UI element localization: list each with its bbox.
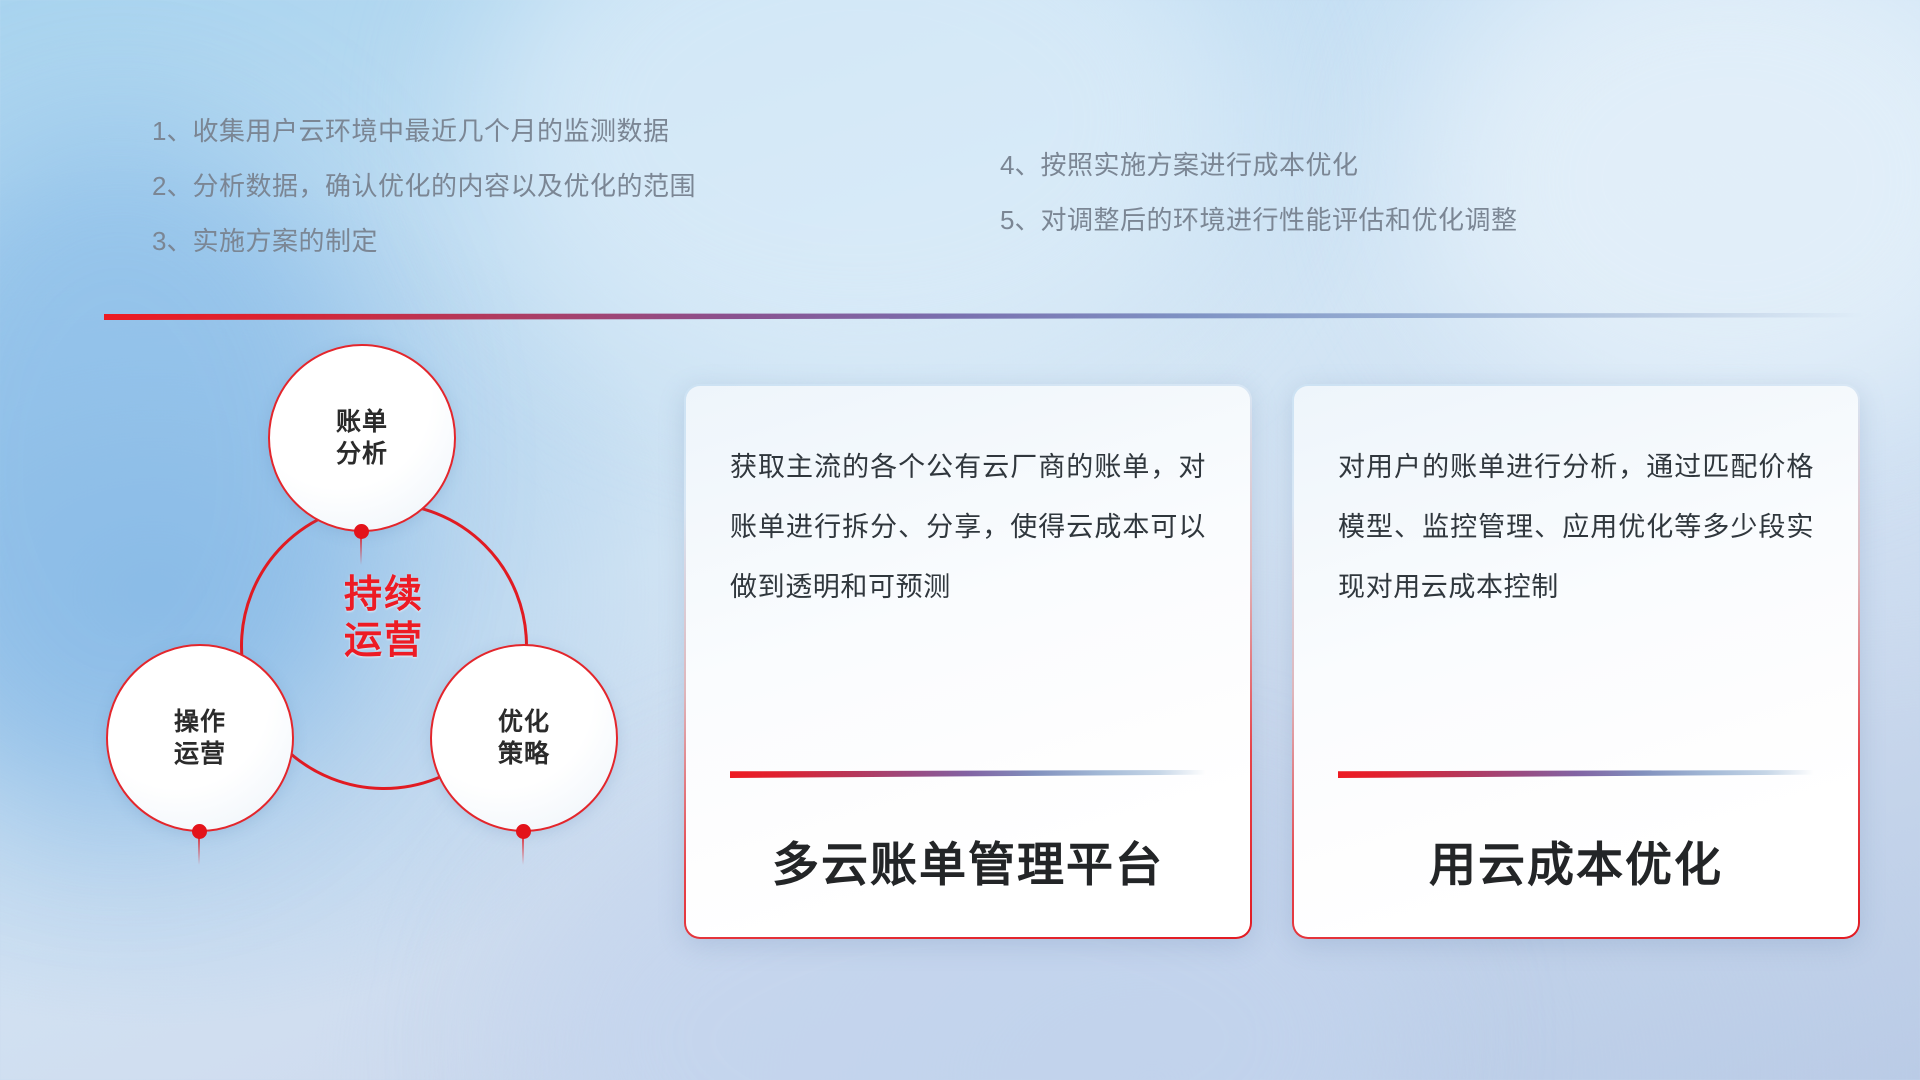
venn-bubble-line-2: 分析 xyxy=(336,438,388,470)
venn-connector-stem-right xyxy=(522,835,524,865)
venn-connector-stem-left xyxy=(198,835,200,865)
venn-center-line-2: 运营 xyxy=(240,618,528,664)
step-list-left: 1、收集用户云环境中最近几个月的监测数据 2、分析数据，确认优化的内容以及优化的… xyxy=(152,118,696,283)
step-number: 5、 xyxy=(1000,205,1040,235)
venn-center-line-1: 持续 xyxy=(240,572,528,618)
feature-card-cloud-cost-optimization[interactable]: 对用户的账单进行分析，通过匹配价格模型、监控管理、应用优化等多少段实现对用云成本… xyxy=(1292,384,1860,939)
feature-card-title: 多云账单管理平台 xyxy=(730,826,1206,937)
venn-bubble-line-2: 策略 xyxy=(498,738,550,770)
step-list-item: 3、实施方案的制定 xyxy=(152,228,696,254)
venn-connector-dot-left xyxy=(192,824,207,839)
step-text: 分析数据，确认优化的内容以及优化的范围 xyxy=(192,171,696,201)
feature-card-title: 用云成本优化 xyxy=(1338,826,1814,937)
venn-connector-dot-right xyxy=(516,824,531,839)
venn-bubble-label: 优化 策略 xyxy=(498,706,550,770)
feature-card-inner: 获取主流的各个公有云厂商的账单，对账单进行拆分、分享，使得云成本可以做到透明和可… xyxy=(686,386,1250,937)
venn-connector-stem-top xyxy=(360,535,362,565)
venn-bubble-line-1: 账单 xyxy=(336,406,388,438)
venn-bubble-operations[interactable]: 操作 运营 xyxy=(106,644,294,832)
venn-connector-dot-top xyxy=(354,524,369,539)
step-number: 2、 xyxy=(152,171,192,201)
step-list-item: 5、对调整后的环境进行性能评估和优化调整 xyxy=(1000,207,1517,233)
venn-bubble-line-1: 优化 xyxy=(498,706,550,738)
venn-bubble-line-2: 运营 xyxy=(174,738,226,770)
step-list-item: 4、按照实施方案进行成本优化 xyxy=(1000,152,1517,178)
step-number: 4、 xyxy=(1000,150,1040,180)
feature-card-accent-bar xyxy=(730,770,1206,778)
section-divider xyxy=(104,313,1864,320)
venn-bubble-line-1: 操作 xyxy=(174,706,226,738)
step-text: 收集用户云环境中最近几个月的监测数据 xyxy=(192,116,669,146)
step-list-item: 1、收集用户云环境中最近几个月的监测数据 xyxy=(152,118,696,144)
feature-card-accent-bar xyxy=(1338,770,1814,778)
step-number: 3、 xyxy=(152,226,192,256)
step-text: 按照实施方案进行成本优化 xyxy=(1040,150,1358,180)
step-list-right: 4、按照实施方案进行成本优化 5、对调整后的环境进行性能评估和优化调整 xyxy=(1000,152,1517,262)
feature-card-body: 对用户的账单进行分析，通过匹配价格模型、监控管理、应用优化等多少段实现对用云成本… xyxy=(1338,438,1814,618)
venn-bubble-label: 操作 运营 xyxy=(174,706,226,770)
step-text: 对调整后的环境进行性能评估和优化调整 xyxy=(1040,205,1517,235)
step-list-item: 2、分析数据，确认优化的内容以及优化的范围 xyxy=(152,173,696,199)
venn-center-label: 持续 运营 xyxy=(240,572,528,665)
step-number: 1、 xyxy=(152,116,192,146)
feature-card-inner: 对用户的账单进行分析，通过匹配价格模型、监控管理、应用优化等多少段实现对用云成本… xyxy=(1294,386,1858,937)
venn-diagram: 持续 运营 账单 分析 操作 运营 优化 策略 xyxy=(100,352,660,952)
feature-card-body: 获取主流的各个公有云厂商的账单，对账单进行拆分、分享，使得云成本可以做到透明和可… xyxy=(730,438,1206,618)
venn-bubble-optimization-strategy[interactable]: 优化 策略 xyxy=(430,644,618,832)
venn-bubble-label: 账单 分析 xyxy=(336,406,388,470)
venn-bubble-billing-analysis[interactable]: 账单 分析 xyxy=(268,344,456,532)
step-text: 实施方案的制定 xyxy=(192,226,378,256)
feature-card-multicloud-billing[interactable]: 获取主流的各个公有云厂商的账单，对账单进行拆分、分享，使得云成本可以做到透明和可… xyxy=(684,384,1252,939)
slide-canvas: 1、收集用户云环境中最近几个月的监测数据 2、分析数据，确认优化的内容以及优化的… xyxy=(0,0,1920,1080)
